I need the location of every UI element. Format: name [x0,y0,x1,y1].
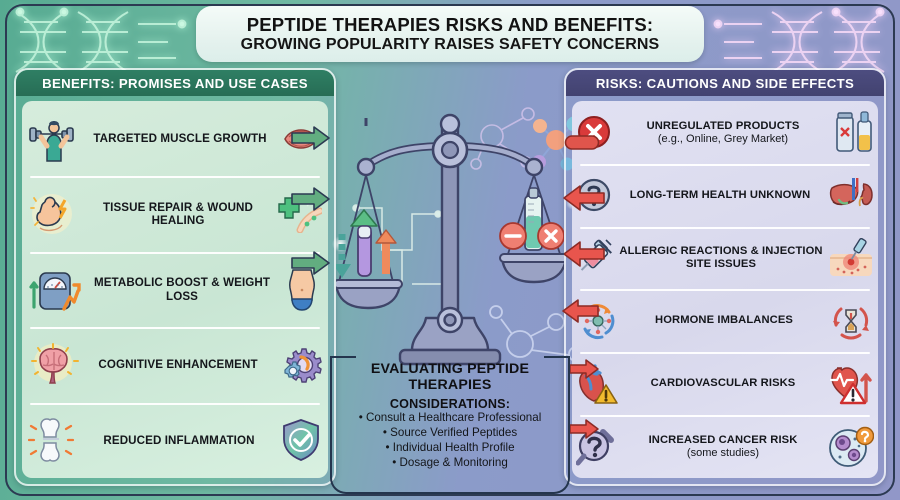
considerations-panel: EVALUATING PEPTIDE THERAPIES CONSIDERATI… [330,358,570,494]
list-item[interactable]: REDUCED INFLAMMATION [22,403,328,478]
list-item-label: INCREASED CANCER RISK (some studies) [623,434,823,460]
page-title: PEPTIDE THERAPIES RISKS AND BENEFITS: GR… [196,6,704,62]
flexed-bicep-icon [28,192,80,236]
infographic-canvas: PEPTIDE THERAPIES RISKS AND BENEFITS: GR… [0,0,900,500]
considerations-header: CONSIDERATIONS: [390,397,510,411]
shield-check-icon [280,418,322,462]
list-item[interactable]: UNREGULATED PRODUCTS (e.g., Online, Grey… [572,101,878,164]
benefits-header: BENEFITS: PROMISES AND USE CASES [16,70,334,96]
risks-column: RISKS: CAUTIONS AND SIDE EFFECTS UNREGUL… [564,68,886,486]
liver-kidney-icon [828,176,874,214]
list-item-label: UNREGULATED PRODUCTS (e.g., Online, Grey… [617,120,829,146]
list-item[interactable]: METABOLIC BOOST & WEIGHT LOSS [22,252,328,327]
red-x-circle-icon [576,114,612,150]
list-item-label: TISSUE REPAIR & WOUND HEALING [85,201,271,228]
list-item[interactable]: LONG-TERM HEALTH UNKNOWN [572,164,878,227]
consideration-item: • Source Verified Peptides [383,426,517,441]
hormone-cycle-icon [576,300,620,342]
evaluating-title: EVALUATING PEPTIDE THERAPIES [332,362,568,393]
list-item-label: METABOLIC BOOST & WEIGHT LOSS [87,276,277,303]
list-item-label: COGNITIVE ENHANCEMENT [85,358,271,371]
title-main: PEPTIDE THERAPIES RISKS AND BENEFITS: [247,15,654,35]
question-circle-icon [576,177,612,213]
magnifier-question-icon [576,426,618,468]
heart-warning-icon [576,363,620,405]
slim-waist-icon [282,268,322,312]
list-item-title: UNREGULATED PRODUCTS [647,120,800,132]
heartbeat-warning-icon [826,363,874,405]
hourglass-cycle-icon [828,300,874,342]
list-item[interactable]: HORMONE IMBALANCES [572,289,878,352]
list-item-label: TARGETED MUSCLE GROWTH [85,132,275,145]
list-item[interactable]: TARGETED MUSCLE GROWTH [22,101,328,176]
list-item[interactable]: ALLERGIC REACTIONS & INJECTION SITE ISSU… [572,227,878,290]
list-item-label: LONG-TERM HEALTH UNKNOWN [617,189,823,202]
title-subtitle: GROWING POPULARITY RAISES SAFETY CONCERN… [241,36,660,54]
list-item[interactable]: CARDIOVASCULAR RISKS [572,352,878,415]
list-item-label: ALLERGIC REACTIONS & INJECTION SITE ISSU… [619,245,823,271]
gears-icon [276,344,322,386]
list-item-label: HORMONE IMBALANCES [625,314,823,327]
list-item[interactable]: COGNITIVE ENHANCEMENT [22,327,328,402]
muscle-fiber-icon [280,122,322,156]
skin-reaction-icon [828,238,874,278]
list-item[interactable]: INCREASED CANCER RISK (some studies) [572,415,878,478]
benefits-list: TARGETED MUSCLE GROWTH [22,101,328,478]
medical-cross-bandage-icon [276,195,322,233]
balance-scale-icon [336,88,564,368]
risks-list: UNREGULATED PRODUCTS (e.g., Online, Grey… [572,101,878,478]
benefits-column: BENEFITS: PROMISES AND USE CASES [14,68,336,486]
risks-header: RISKS: CAUTIONS AND SIDE EFFECTS [566,70,884,96]
list-item-title: INCREASED CANCER RISK [649,434,798,446]
list-item-label: CARDIOVASCULAR RISKS [625,377,821,390]
joint-bone-icon [28,417,78,463]
consideration-item: • Individual Health Profile [385,441,514,456]
weightlifter-icon [28,116,80,162]
syringe-icon [576,237,614,279]
list-item-label: REDUCED INFLAMMATION [83,434,275,447]
list-item-subtitle: (some studies) [623,447,823,460]
list-item-subtitle: (e.g., Online, Grey Market) [617,133,829,146]
brain-icon [28,343,80,387]
weight-scale-icon [28,267,82,313]
cell-question-icon [828,426,874,468]
consideration-item: • Dosage & Monitoring [392,456,508,471]
consideration-item: • Consult a Healthcare Professional [359,411,542,426]
vials-icon [834,111,874,153]
list-item[interactable]: TISSUE REPAIR & WOUND HEALING [22,176,328,251]
